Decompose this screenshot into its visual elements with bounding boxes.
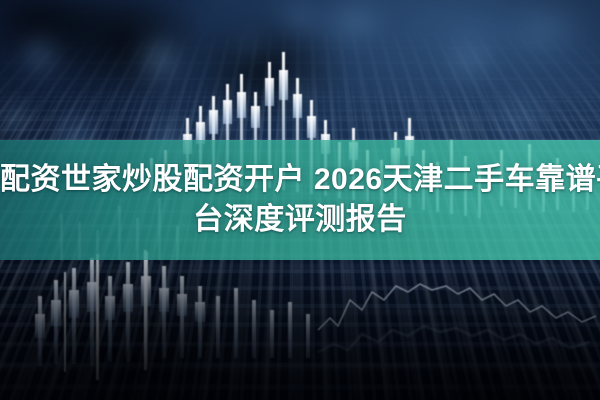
lower-candle-group <box>35 252 310 366</box>
line-series-lower-right <box>318 284 596 330</box>
banner-image: 配资世家炒股配资开户 2026天津二手车靠谱平 台深度评测报告 <box>0 0 600 400</box>
banner-title-line-1: 配资世家炒股配资开户 2026天津二手车靠谱平 <box>0 163 600 196</box>
banner-title: 配资世家炒股配资开户 2026天津二手车靠谱平 台深度评测报告 <box>0 160 600 240</box>
banner-title-line-2: 台深度评测报告 <box>0 200 600 240</box>
